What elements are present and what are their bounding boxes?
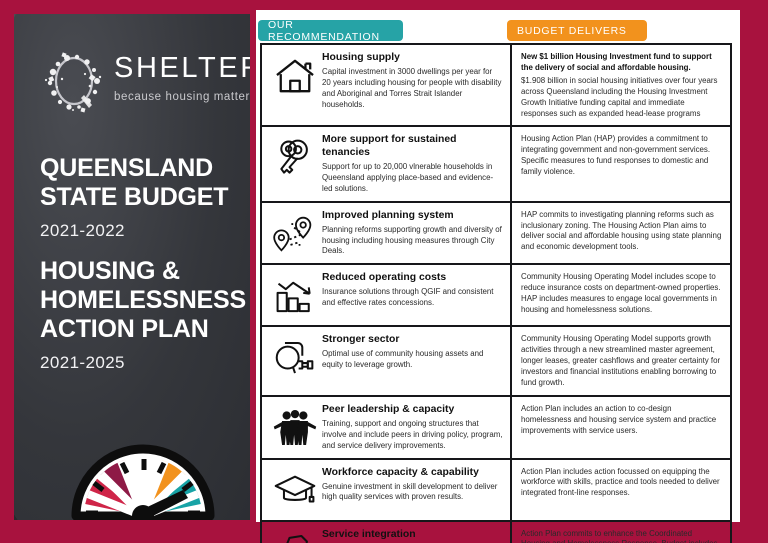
table-row: Housing supply Capital investment in 300… [262,45,730,127]
recommendation-desc: Insurance solutions through QGIF and con… [322,287,503,309]
shelter-q-dots-logo-icon [40,50,108,116]
table-row: Stronger sector Optimal use of community… [262,327,730,397]
delivers-cell: Community Housing Operating Model suppor… [512,327,730,395]
keys-icon [268,135,322,181]
table-row: Peer leadership & capacity Training, sup… [262,397,730,460]
cover-line-1: QUEENSLAND [40,154,250,183]
recommendations-table: Housing supply Capital investment in 300… [260,43,732,543]
column-headers: OUR RECOMMENDATION BUDGET DELIVERS [258,20,738,41]
delivers-body: Action Plan includes an action to co-des… [521,404,722,437]
recommendation-cell: Stronger sector Optimal use of community… [262,327,512,395]
delivers-body: Community Housing Operating Model includ… [521,272,722,316]
cover-budget-years: 2021-2022 [40,221,250,241]
recommendation-text: Reduced operating costs Insurance soluti… [322,271,503,309]
recommendation-desc: Planning reforms supporting growth and d… [322,225,503,258]
delivers-cell: Community Housing Operating Model includ… [512,265,730,325]
jigsaw-puzzle-icon [268,530,322,543]
delivers-cell: Action Plan includes action focussed on … [512,460,730,520]
recommendation-text: Peer leadership & capacity Training, sup… [322,403,503,452]
delivers-cell: Housing Action Plan (HAP) provides a com… [512,127,730,200]
delivers-body: HAP commits to investigating planning re… [521,210,722,254]
cover-plan-years: 2021-2025 [40,353,250,373]
table-row: More support for sustained tenancies Sup… [262,127,730,202]
table-row: Workforce capacity & capability Genuine … [262,460,730,522]
recommendation-title: Peer leadership & capacity [322,404,503,416]
recommendation-cell: Workforce capacity & capability Genuine … [262,460,512,520]
column-header-delivers: BUDGET DELIVERS [507,20,647,41]
recommendation-cell: Service integration Ongoing service inte… [262,522,512,543]
recommendation-desc: Training, support and ongoing structures… [322,419,503,452]
cover-headline: QUEENSLAND STATE BUDGET 2021-2022 HOUSIN… [40,154,250,389]
group-of-people-icon [268,405,322,451]
map-pins-icon [268,211,322,257]
recommendation-title: Service integration [322,529,503,541]
recommendation-desc: Capital investment in 3000 dwellings per… [322,67,503,111]
recommendation-text: Stronger sector Optimal use of community… [322,333,503,371]
brand-tagline: because housing matters [114,91,250,103]
recommendation-text: Service integration Ongoing service inte… [322,528,503,543]
speedometer-gauge-icon [70,428,216,520]
cover-line-3: HOUSING & [40,257,250,286]
delivers-highlight: New $1 billion Housing Investment fund t… [521,52,722,74]
recommendation-cell: Peer leadership & capacity Training, sup… [262,397,512,458]
delivers-body: Action Plan commits to enhance the Coord… [521,529,722,543]
table-row: Reduced operating costs Insurance soluti… [262,265,730,327]
delivers-cell: Action Plan includes an action to co-des… [512,397,730,458]
recommendation-desc: Genuine investment in skill development … [322,482,503,504]
delivers-cell: Action Plan commits to enhance the Coord… [512,522,730,543]
shelter-logo-text: SHELTER because housing matters [114,54,250,103]
cover-panel: SHELTER because housing matters QUEENSLA… [14,14,250,520]
cover-line-4: HOMELESSNESS [40,286,250,315]
recommendation-title: Housing supply [322,52,503,64]
graduation-cap-icon [268,468,322,514]
recommendation-cell: Improved planning system Planning reform… [262,203,512,264]
house-icon [268,53,322,99]
recommendation-desc: Support for up to 20,000 vlnerable house… [322,162,503,195]
delivers-body: Action Plan includes action focussed on … [521,467,722,500]
recommendation-text: Workforce capacity & capability Genuine … [322,466,503,504]
delivers-body: Community Housing Operating Model suppor… [521,334,722,389]
recommendation-title: Stronger sector [322,334,503,346]
cover-line-2: STATE BUDGET [40,183,250,212]
recommendation-title: Reduced operating costs [322,272,503,284]
recommendation-text: More support for sustained tenancies Sup… [322,133,503,194]
declining-bar-chart-icon [268,273,322,319]
recommendation-text: Housing supply Capital investment in 300… [322,51,503,111]
infographic-page: SHELTER because housing matters QUEENSLA… [0,0,768,543]
delivers-cell: HAP commits to investigating planning re… [512,203,730,264]
delivers-body: Housing Action Plan (HAP) provides a com… [521,134,722,178]
column-header-recommendation: OUR RECOMMENDATION [258,20,403,41]
recommendation-cell: Reduced operating costs Insurance soluti… [262,265,512,325]
content-panel: OUR RECOMMENDATION BUDGET DELIVERS [256,10,740,522]
cover-line-5: ACTION PLAN [40,315,250,344]
shelter-logo: SHELTER because housing matters [40,48,240,118]
recommendation-text: Improved planning system Planning reform… [322,209,503,258]
recommendation-desc: Optimal use of community housing assets … [322,349,503,371]
recommendation-cell: More support for sustained tenancies Sup… [262,127,512,200]
table-row: Service integration Ongoing service inte… [262,522,730,543]
recommendation-title: Workforce capacity & capability [322,467,503,479]
table-row: Improved planning system Planning reform… [262,203,730,266]
recommendation-cell: Housing supply Capital investment in 300… [262,45,512,125]
recommendation-title: More support for sustained tenancies [322,134,503,159]
delivers-body: $1.908 billion in social housing initiat… [521,76,722,120]
brand-name: SHELTER [114,54,250,83]
dumbbell-muscle-icon [268,335,322,381]
recommendation-title: Improved planning system [322,210,503,222]
delivers-cell: New $1 billion Housing Investment fund t… [512,45,730,125]
